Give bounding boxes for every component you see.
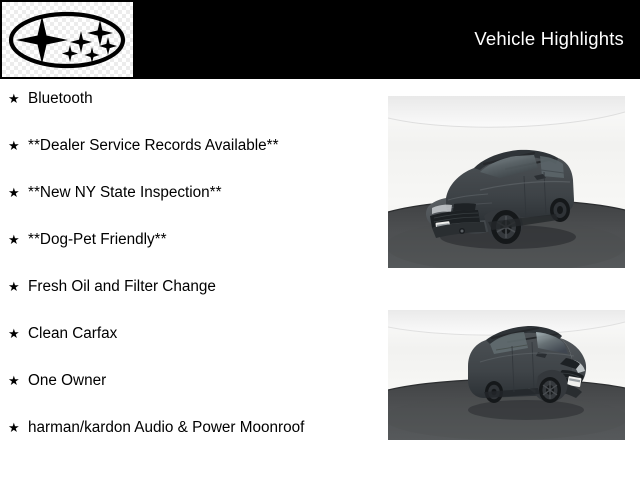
star-bullet-icon: ★ — [8, 417, 20, 438]
star-bullet-icon: ★ — [8, 88, 20, 109]
star-bullet-icon: ★ — [8, 229, 20, 250]
list-item: ★ One Owner — [0, 370, 375, 417]
list-item: ★ **New NY State Inspection** — [0, 182, 375, 229]
list-item: ★ **Dog-Pet Friendly** — [0, 229, 375, 276]
list-item-label: **New NY State Inspection** — [28, 182, 369, 203]
list-item: ★ Bluetooth — [0, 88, 375, 135]
list-item-label: Bluetooth — [28, 88, 369, 109]
list-item-label: **Dog-Pet Friendly** — [28, 229, 369, 250]
star-bullet-icon: ★ — [8, 135, 20, 156]
list-item-label: Clean Carfax — [28, 323, 369, 344]
list-item-label: Fresh Oil and Filter Change — [28, 276, 369, 297]
header-bar: Vehicle Highlights — [0, 0, 640, 79]
vehicle-highlights-list: ★ Bluetooth ★ **Dealer Service Records A… — [0, 88, 375, 464]
list-item: ★ harman/kardon Audio & Power Moonroof — [0, 417, 375, 464]
list-item: ★ Clean Carfax — [0, 323, 375, 370]
list-item: ★ **Dealer Service Records Available** — [0, 135, 375, 182]
list-item-label: **Dealer Service Records Available** — [28, 135, 369, 156]
vehicle-photo-front-angle[interactable] — [388, 310, 625, 440]
list-item-label: One Owner — [28, 370, 369, 391]
brand-logo-container — [2, 2, 133, 77]
star-bullet-icon: ★ — [8, 323, 20, 344]
page-title: Vehicle Highlights — [474, 28, 624, 50]
star-bullet-icon: ★ — [8, 182, 20, 203]
list-item-label: harman/kardon Audio & Power Moonroof — [28, 417, 369, 438]
list-item: ★ Fresh Oil and Filter Change — [0, 276, 375, 323]
star-bullet-icon: ★ — [8, 276, 20, 297]
vehicle-photo-front-three-quarter[interactable] — [388, 96, 625, 268]
star-bullet-icon: ★ — [8, 370, 20, 391]
